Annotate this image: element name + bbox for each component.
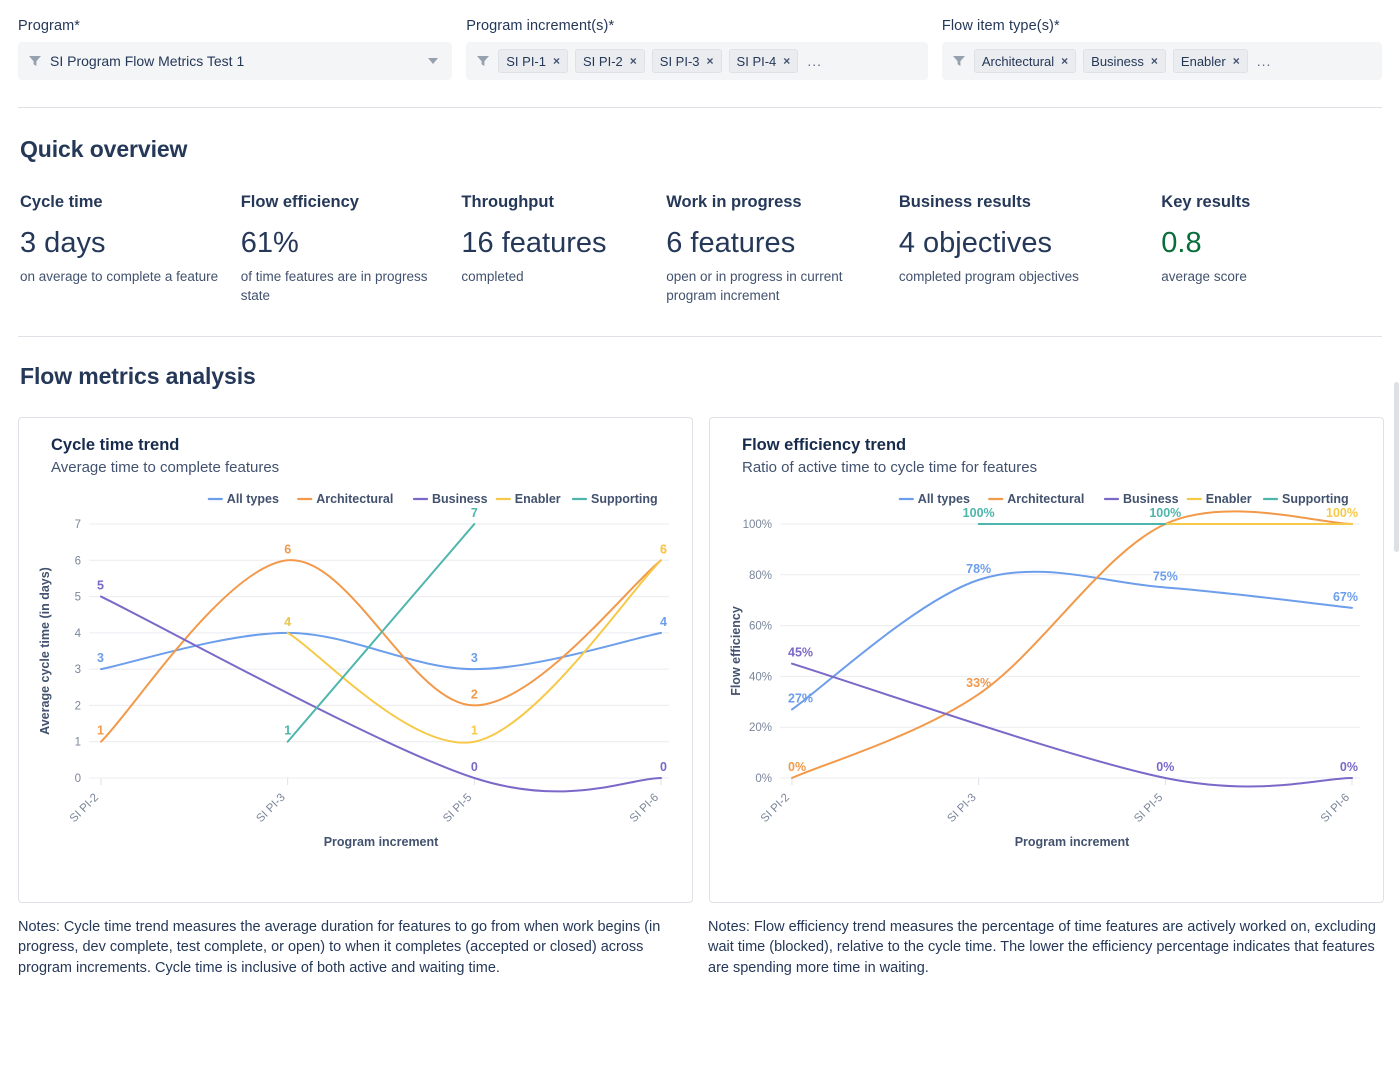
metric-cycle-time: Cycle time 3 days on average to complete… <box>20 193 241 306</box>
x-tick-label: SI PI-6 <box>1319 791 1352 824</box>
program-filter-label: Program* <box>18 18 452 34</box>
notes-row: Notes: Cycle time trend measures the ave… <box>0 903 1400 979</box>
series-line-business[interactable] <box>792 663 1352 786</box>
y-tick-label: 40% <box>749 671 772 683</box>
funnel-icon <box>476 54 490 68</box>
close-icon[interactable]: × <box>1151 55 1158 67</box>
legend-label[interactable]: Supporting <box>1282 492 1349 506</box>
data-label: 0 <box>660 760 667 774</box>
data-label: 0 <box>471 760 478 774</box>
legend-label[interactable]: Business <box>432 492 488 506</box>
metric-value: 61% <box>241 228 446 258</box>
chart-legend: All typesArchitecturalBusinessEnablerSup… <box>900 492 1349 506</box>
chip-architectural[interactable]: Architectural× <box>974 49 1076 73</box>
data-label: 2 <box>471 687 478 701</box>
y-tick-label: 1 <box>75 736 81 748</box>
metric-sub: completed program objectives <box>899 268 1145 287</box>
program-increments-label: Program increment(s)* <box>466 18 928 34</box>
close-icon[interactable]: × <box>630 55 637 67</box>
y-tick-label: 0 <box>75 773 81 785</box>
funnel-icon <box>28 54 42 68</box>
metric-sub: on average to complete a feature <box>20 268 225 287</box>
chip-pi-2[interactable]: SI PI-2× <box>575 49 645 73</box>
chip-enabler[interactable]: Enabler× <box>1173 49 1248 73</box>
chip-label: Business <box>1091 54 1144 69</box>
program-select-value: SI Program Flow Metrics Test 1 <box>50 53 420 69</box>
x-tick-label: SI PI-3 <box>945 791 978 824</box>
data-label: 78% <box>966 562 991 576</box>
y-tick-label: 5 <box>75 591 81 603</box>
x-tick-label: SI PI-5 <box>441 791 474 824</box>
chart-subtitle: Ratio of active time to cycle time for f… <box>742 459 1369 476</box>
program-filter-group: Program* SI Program Flow Metrics Test 1 <box>18 18 452 80</box>
y-axis-title: Flow efficiency <box>729 606 743 696</box>
cycle-time-trend-chart[interactable]: All typesArchitecturalBusinessEnablerSup… <box>33 482 678 887</box>
chip-pi-1[interactable]: SI PI-1× <box>498 49 568 73</box>
metric-value: 16 features <box>461 228 650 258</box>
legend-label[interactable]: Business <box>1123 492 1179 506</box>
close-icon[interactable]: × <box>783 55 790 67</box>
metric-value: 4 objectives <box>899 228 1145 258</box>
y-tick-label: 2 <box>75 700 81 712</box>
data-label: 7 <box>471 506 478 520</box>
data-label: 1 <box>97 723 104 737</box>
legend-label[interactable]: Enabler <box>515 492 561 506</box>
data-label: 100% <box>1326 506 1358 520</box>
metric-label: Throughput <box>461 193 650 212</box>
y-tick-label: 7 <box>75 519 81 531</box>
metric-business-results: Business results 4 objectives completed … <box>899 193 1161 306</box>
x-axis-title: Program increment <box>324 835 439 849</box>
data-label: 67% <box>1333 590 1358 604</box>
cycle-time-notes: Notes: Cycle time trend measures the ave… <box>18 917 692 979</box>
y-axis-title: Average cycle time (in days) <box>38 567 52 735</box>
data-label: 45% <box>788 645 813 659</box>
chart-subtitle: Average time to complete features <box>51 459 678 476</box>
overflow-ellipsis[interactable]: ... <box>1255 53 1272 69</box>
y-tick-label: 4 <box>75 628 82 640</box>
x-axis-title: Program increment <box>1015 835 1130 849</box>
flow-item-types-select[interactable]: Architectural× Business× Enabler× ... <box>942 42 1382 80</box>
x-tick-label: SI PI-6 <box>628 791 661 824</box>
data-label: 0% <box>1156 760 1174 774</box>
x-tick-label: SI PI-2 <box>68 791 101 824</box>
legend-label[interactable]: All types <box>918 492 970 506</box>
legend-label[interactable]: Architectural <box>316 492 393 506</box>
data-label: 27% <box>788 691 813 705</box>
chip-label: SI PI-4 <box>737 54 777 69</box>
chip-pi-3[interactable]: SI PI-3× <box>652 49 722 73</box>
chip-label: Enabler <box>1181 54 1226 69</box>
y-tick-label: 80% <box>749 569 772 581</box>
page-scrollbar[interactable] <box>1393 0 1400 1083</box>
data-label: 6 <box>284 542 291 556</box>
chevron-down-icon[interactable] <box>428 58 438 64</box>
scrollbar-thumb[interactable] <box>1394 382 1399 552</box>
y-tick-label: 0% <box>755 773 772 785</box>
chip-label: Architectural <box>982 54 1054 69</box>
metric-label: Work in progress <box>666 193 883 212</box>
overflow-ellipsis[interactable]: ... <box>805 53 822 69</box>
chart-title: Cycle time trend <box>51 436 678 455</box>
legend-label[interactable]: All types <box>227 492 279 506</box>
y-tick-label: 100% <box>743 519 772 531</box>
chart-x-axis: SI PI-2SI PI-3SI PI-5SI PI-6 <box>68 778 661 825</box>
metric-work-in-progress: Work in progress 6 features open or in p… <box>666 193 899 306</box>
metric-sub: of time features are in progress state <box>241 268 446 305</box>
cycle-time-trend-card: Cycle time trend Average time to complet… <box>18 417 693 903</box>
legend-label[interactable]: Architectural <box>1007 492 1084 506</box>
data-label: 1 <box>471 723 478 737</box>
metric-label: Business results <box>899 193 1145 212</box>
metric-key-results: Key results 0.8 average score <box>1161 193 1382 306</box>
flow-metrics-dashboard: Program* SI Program Flow Metrics Test 1 … <box>0 0 1400 1083</box>
data-label: 3 <box>471 651 478 665</box>
y-tick-label: 20% <box>749 722 772 734</box>
close-icon[interactable]: × <box>707 55 714 67</box>
program-increments-filter-group: Program increment(s)* SI PI-1× SI PI-2× … <box>466 18 928 80</box>
flow-efficiency-trend-card: Flow efficiency trend Ratio of active ti… <box>709 417 1384 903</box>
metric-throughput: Throughput 16 features completed <box>461 193 666 306</box>
quick-overview-metrics: Cycle time 3 days on average to complete… <box>0 163 1400 306</box>
data-label: 4 <box>660 615 667 629</box>
legend-label[interactable]: Enabler <box>1206 492 1252 506</box>
quick-overview-title: Quick overview <box>0 108 1400 163</box>
charts-row: Cycle time trend Average time to complet… <box>0 390 1400 903</box>
close-icon[interactable]: × <box>1061 55 1068 67</box>
x-tick-label: SI PI-5 <box>1132 791 1165 824</box>
flow-item-types-filter-group: Flow item type(s)* Architectural× Busine… <box>942 18 1382 80</box>
metric-value: 6 features <box>666 228 883 258</box>
data-label: 4 <box>284 615 291 629</box>
chart-gridlines: 01234567 <box>75 519 669 785</box>
data-label: 0% <box>1340 760 1358 774</box>
filter-bar: Program* SI Program Flow Metrics Test 1 … <box>0 0 1400 80</box>
close-icon[interactable]: × <box>553 55 560 67</box>
data-label: 6 <box>660 542 667 556</box>
flow-metrics-analysis-title: Flow metrics analysis <box>0 337 1400 390</box>
flow-efficiency-notes: Notes: Flow efficiency trend measures th… <box>708 917 1382 979</box>
x-tick-label: SI PI-2 <box>759 791 792 824</box>
legend-label[interactable]: Supporting <box>591 492 658 506</box>
flow-item-types-label: Flow item type(s)* <box>942 18 1382 34</box>
metric-sub: average score <box>1161 268 1366 287</box>
funnel-icon <box>952 54 966 68</box>
chip-label: SI PI-3 <box>660 54 700 69</box>
metric-value: 3 days <box>20 228 225 258</box>
metric-sub: completed <box>461 268 650 287</box>
y-tick-label: 60% <box>749 620 772 632</box>
data-label: 100% <box>963 506 995 520</box>
chip-pi-4[interactable]: SI PI-4× <box>729 49 799 73</box>
metric-label: Key results <box>1161 193 1366 212</box>
chart-title: Flow efficiency trend <box>742 436 1369 455</box>
y-tick-label: 3 <box>75 664 81 676</box>
chart-legend: All typesArchitecturalBusinessEnablerSup… <box>209 492 658 506</box>
series-line-all-types[interactable] <box>792 571 1352 709</box>
metric-flow-efficiency: Flow efficiency 61% of time features are… <box>241 193 462 306</box>
series-line-business[interactable] <box>101 596 661 791</box>
metric-label: Cycle time <box>20 193 225 212</box>
data-label: 5 <box>97 578 104 592</box>
series-line-architectural[interactable] <box>792 511 1352 778</box>
data-label: 100% <box>1149 506 1181 520</box>
flow-efficiency-trend-chart[interactable]: All typesArchitecturalBusinessEnablerSup… <box>724 482 1369 887</box>
metric-label: Flow efficiency <box>241 193 446 212</box>
chart-x-axis: SI PI-2SI PI-3SI PI-5SI PI-6 <box>759 778 1352 825</box>
chip-label: SI PI-2 <box>583 54 623 69</box>
program-increments-chips: SI PI-1× SI PI-2× SI PI-3× SI PI-4× ... <box>498 49 918 73</box>
data-label: 3 <box>97 651 104 665</box>
data-label: 33% <box>966 676 991 690</box>
chip-label: SI PI-1 <box>506 54 546 69</box>
x-tick-label: SI PI-3 <box>254 791 287 824</box>
flow-item-types-chips: Architectural× Business× Enabler× ... <box>974 49 1372 73</box>
data-label: 75% <box>1153 569 1178 583</box>
program-select[interactable]: SI Program Flow Metrics Test 1 <box>18 42 452 80</box>
chip-business[interactable]: Business× <box>1083 49 1166 73</box>
metric-sub: open or in progress in current program i… <box>666 268 883 305</box>
chart-gridlines: 0%20%40%60%80%100% <box>743 519 1360 785</box>
data-label: 1 <box>284 723 291 737</box>
metric-value: 0.8 <box>1161 228 1366 258</box>
data-label: 0% <box>788 760 806 774</box>
y-tick-label: 6 <box>75 555 81 567</box>
program-increments-select[interactable]: SI PI-1× SI PI-2× SI PI-3× SI PI-4× ... <box>466 42 928 80</box>
close-icon[interactable]: × <box>1233 55 1240 67</box>
